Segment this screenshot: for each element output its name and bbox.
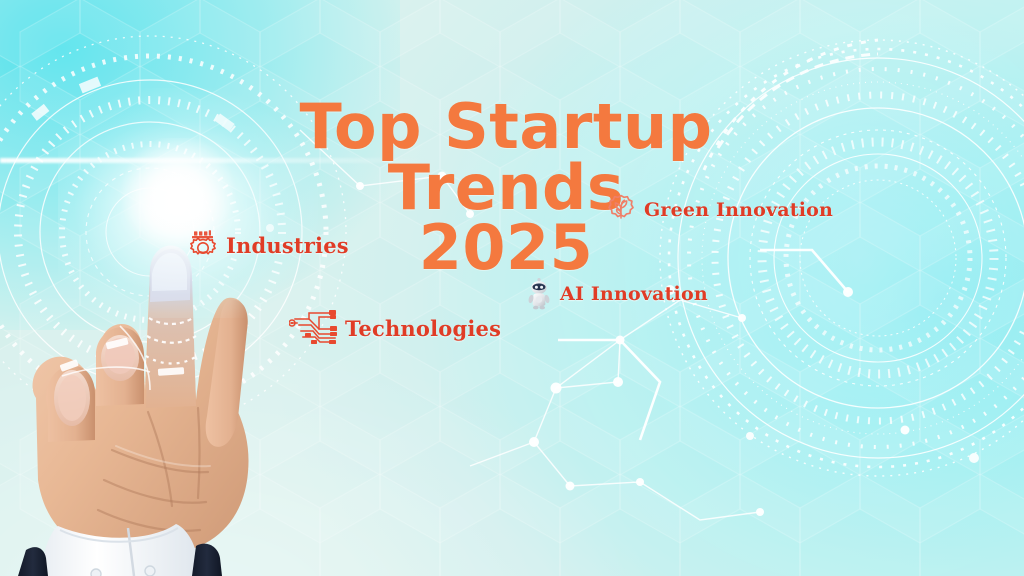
trend-item-technologies[interactable]: Technologies (289, 307, 501, 349)
trend-item-ai-innovation[interactable]: AI Innovation (524, 278, 708, 310)
trend-item-industries[interactable]: Industries (186, 228, 349, 262)
robot-icon (524, 278, 554, 310)
factory-gear-icon (186, 228, 220, 262)
circuit-board-icon (289, 307, 339, 349)
trend-item-green-innovation[interactable]: Green Innovation (604, 193, 833, 227)
trend-label-ai-innovation: AI Innovation (560, 283, 708, 305)
eco-gear-leaf-icon (604, 193, 638, 227)
page-title: Top Startup Trends 2025 (176, 36, 836, 340)
trend-label-green-innovation: Green Innovation (644, 199, 833, 221)
trend-label-technologies: Technologies (345, 316, 501, 341)
trend-label-industries: Industries (226, 233, 349, 258)
poster-canvas: Top Startup Trends 2025 (0, 0, 1024, 576)
